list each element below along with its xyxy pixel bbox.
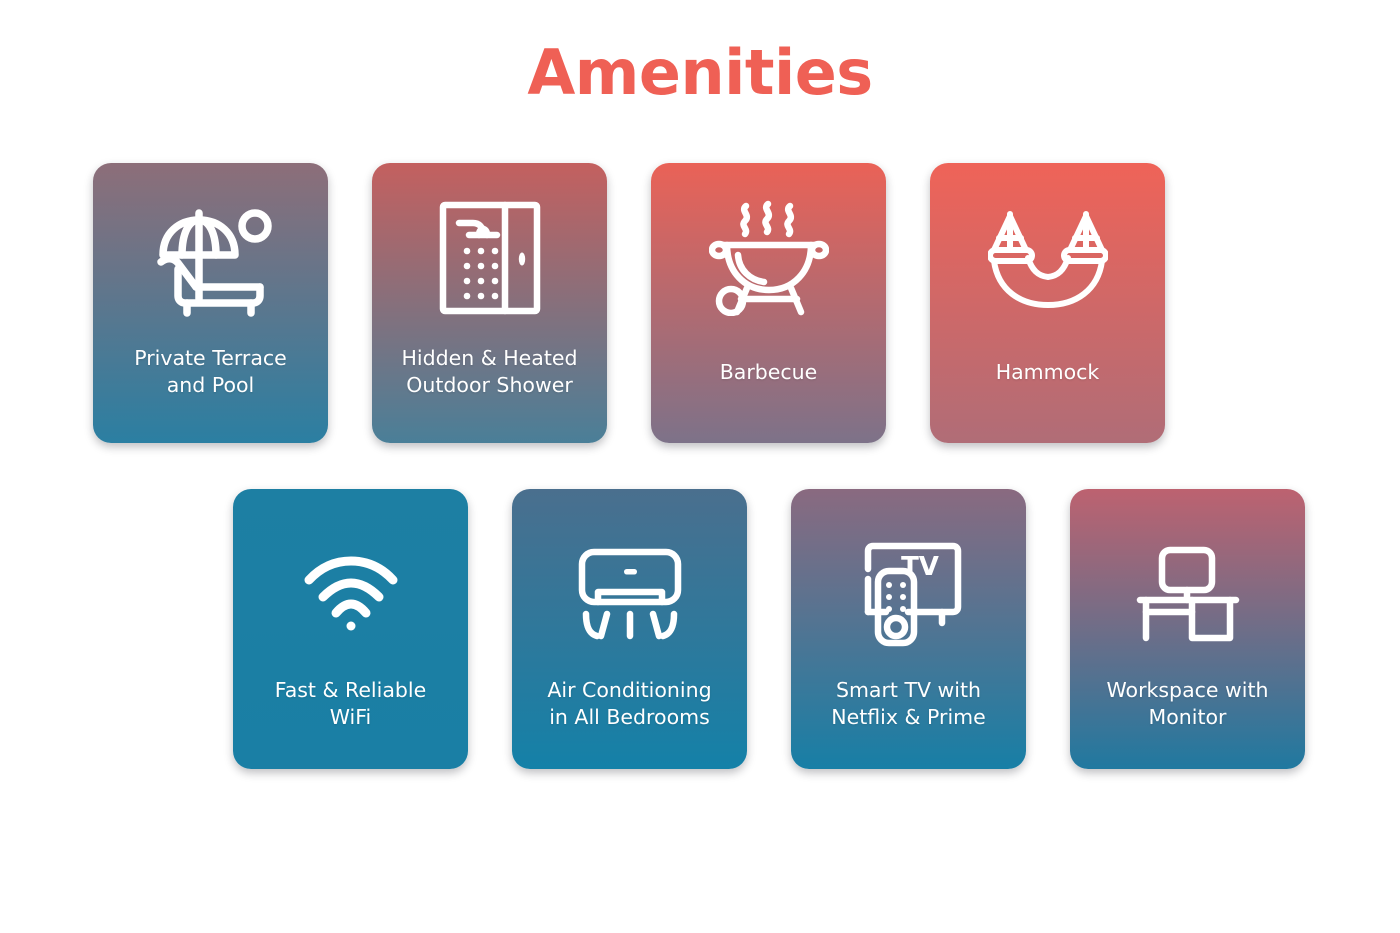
smart-tv-remote-icon: TV: [791, 535, 1026, 653]
air-conditioner-icon: [512, 535, 747, 653]
barbecue-grill-icon: [651, 197, 886, 319]
amenity-card-label: Barbecue: [651, 359, 886, 386]
amenity-card-outdoor-shower[interactable]: Hidden & Heated Outdoor Shower: [372, 163, 607, 443]
amenity-card-air-conditioning[interactable]: Air Conditioning in All Bedrooms: [512, 489, 747, 769]
amenity-card-wifi[interactable]: Fast & Reliable WiFi: [233, 489, 468, 769]
amenity-card-label: Fast & Reliable WiFi: [233, 677, 468, 731]
amenity-card-label: Smart TV with Netflix & Prime: [791, 677, 1026, 731]
amenity-card-label: Air Conditioning in All Bedrooms: [512, 677, 747, 731]
amenity-card-barbecue[interactable]: Barbecue: [651, 163, 886, 443]
amenity-card-hammock[interactable]: Hammock: [930, 163, 1165, 443]
amenity-card-label: Private Terrace and Pool: [93, 345, 328, 399]
outdoor-shower-icon: [372, 197, 607, 319]
svg-text:TV: TV: [901, 552, 939, 582]
amenities-page: Amenities: [0, 0, 1400, 933]
amenity-card-private-terrace[interactable]: Private Terrace and Pool: [93, 163, 328, 443]
desk-monitor-icon: [1070, 535, 1305, 653]
amenities-row-1: Private Terrace and Pool: [93, 163, 1400, 443]
beach-umbrella-lounger-icon: [93, 197, 328, 319]
wifi-icon: [233, 535, 468, 653]
page-title: Amenities: [0, 36, 1400, 109]
hammock-icon: [930, 197, 1165, 319]
amenity-card-smart-tv[interactable]: TV Smart TV with Netflix & Prime: [791, 489, 1026, 769]
amenity-card-workspace[interactable]: Workspace with Monitor: [1070, 489, 1305, 769]
amenity-card-label: Hammock: [930, 359, 1165, 386]
amenity-card-label: Hidden & Heated Outdoor Shower: [372, 345, 607, 399]
amenities-grid: Private Terrace and Pool: [0, 163, 1400, 769]
amenity-card-label: Workspace with Monitor: [1070, 677, 1305, 731]
amenities-row-2: Fast & Reliable WiFi Air C: [233, 489, 1400, 769]
